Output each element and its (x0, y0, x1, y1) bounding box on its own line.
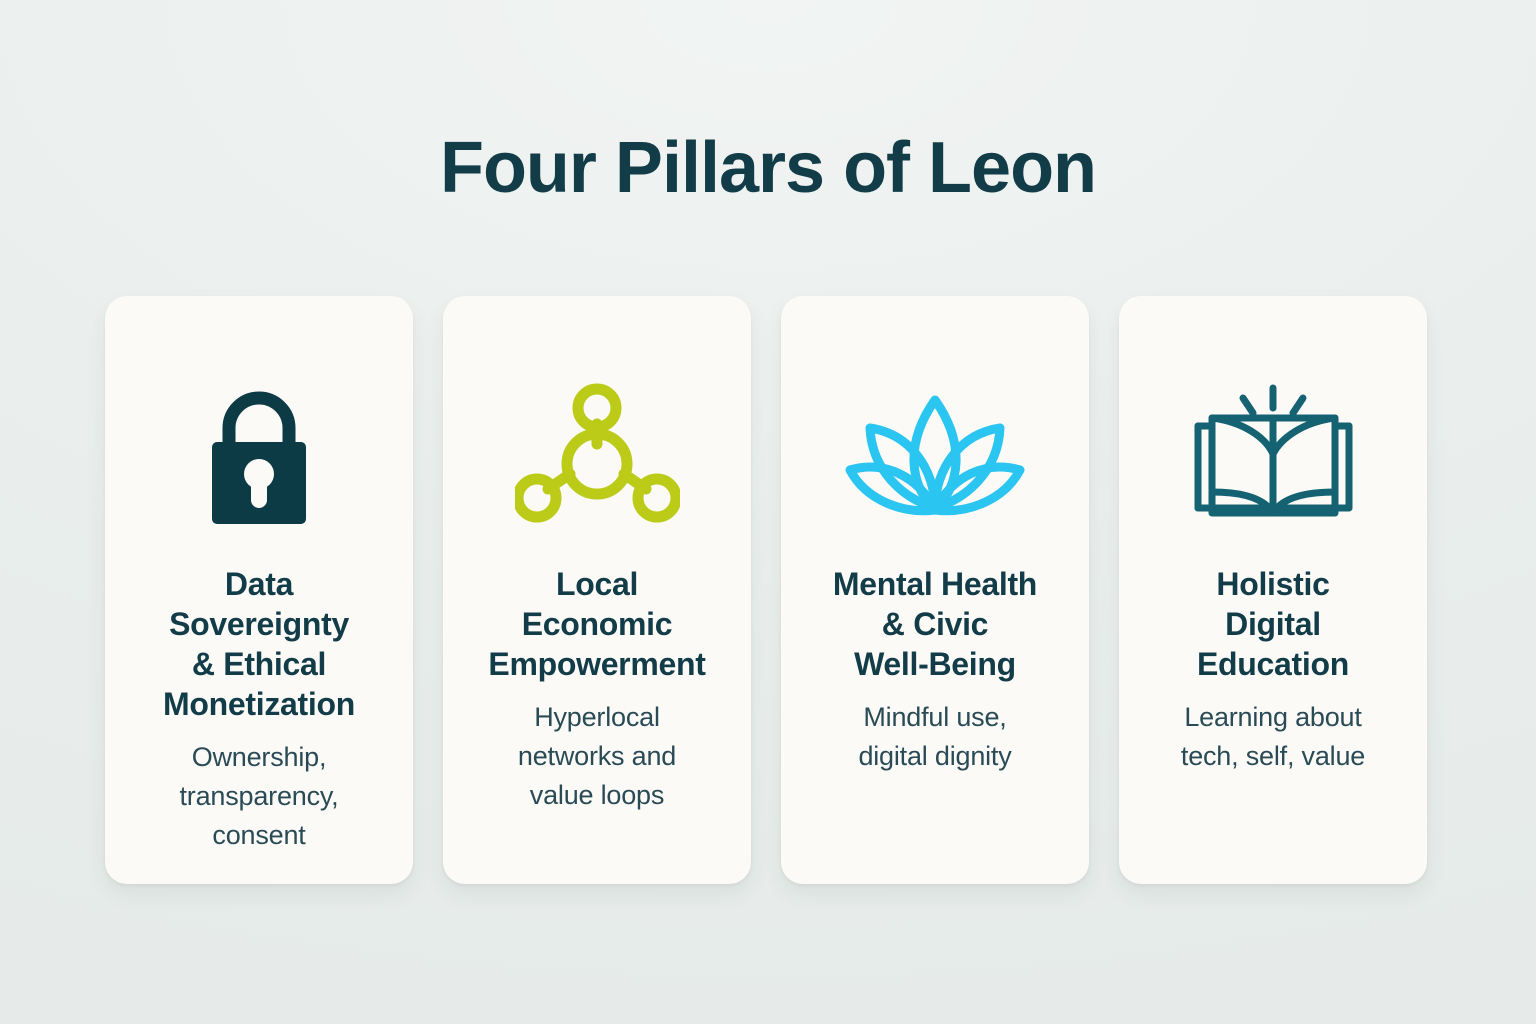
icon-container (515, 352, 680, 562)
poster-canvas: Four Pillars of Leon Data Sovereignty & … (0, 0, 1536, 1024)
card-description: Mindful use, digital dignity (858, 698, 1011, 776)
pillar-card-mental-health[interactable]: Mental Health & Civic Well-Being Mindful… (781, 296, 1089, 884)
lotus-icon (840, 382, 1030, 532)
card-title: Local Economic Empowerment (488, 564, 705, 684)
lock-icon (184, 382, 334, 532)
card-title: Mental Health & Civic Well-Being (833, 564, 1037, 684)
icon-container (1186, 352, 1361, 562)
open-book-icon (1186, 382, 1361, 532)
page-title: Four Pillars of Leon (0, 132, 1536, 204)
icon-container (840, 352, 1030, 562)
icon-container (184, 352, 334, 562)
pillar-card-row: Data Sovereignty & Ethical Monetization … (105, 296, 1427, 884)
card-description: Ownership, transparency, consent (180, 738, 339, 855)
card-description: Hyperlocal networks and value loops (518, 698, 676, 815)
pillar-card-digital-education[interactable]: Holistic Digital Education Learning abou… (1119, 296, 1427, 884)
pillar-card-data-sovereignty[interactable]: Data Sovereignty & Ethical Monetization … (105, 296, 413, 884)
card-description: Learning about tech, self, value (1181, 698, 1365, 776)
card-title: Data Sovereignty & Ethical Monetization (163, 564, 355, 724)
network-nodes-icon (515, 382, 680, 532)
card-title: Holistic Digital Education (1197, 564, 1349, 684)
pillar-card-local-economic[interactable]: Local Economic Empowerment Hyperlocal ne… (443, 296, 751, 884)
